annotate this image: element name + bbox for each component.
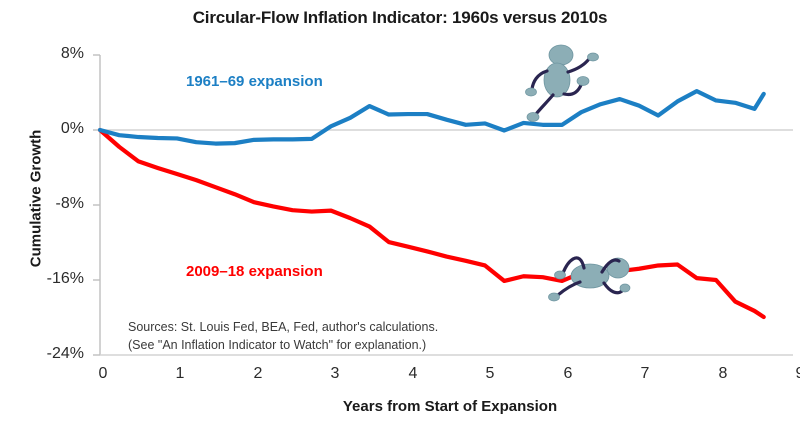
series-line-1961-69: [100, 91, 764, 144]
series-line-2009-18: [100, 130, 764, 317]
chart-container: Circular-Flow Inflation Indicator: 1960s…: [0, 0, 800, 430]
plot-area: [0, 0, 800, 430]
axis-group: [93, 55, 793, 355]
